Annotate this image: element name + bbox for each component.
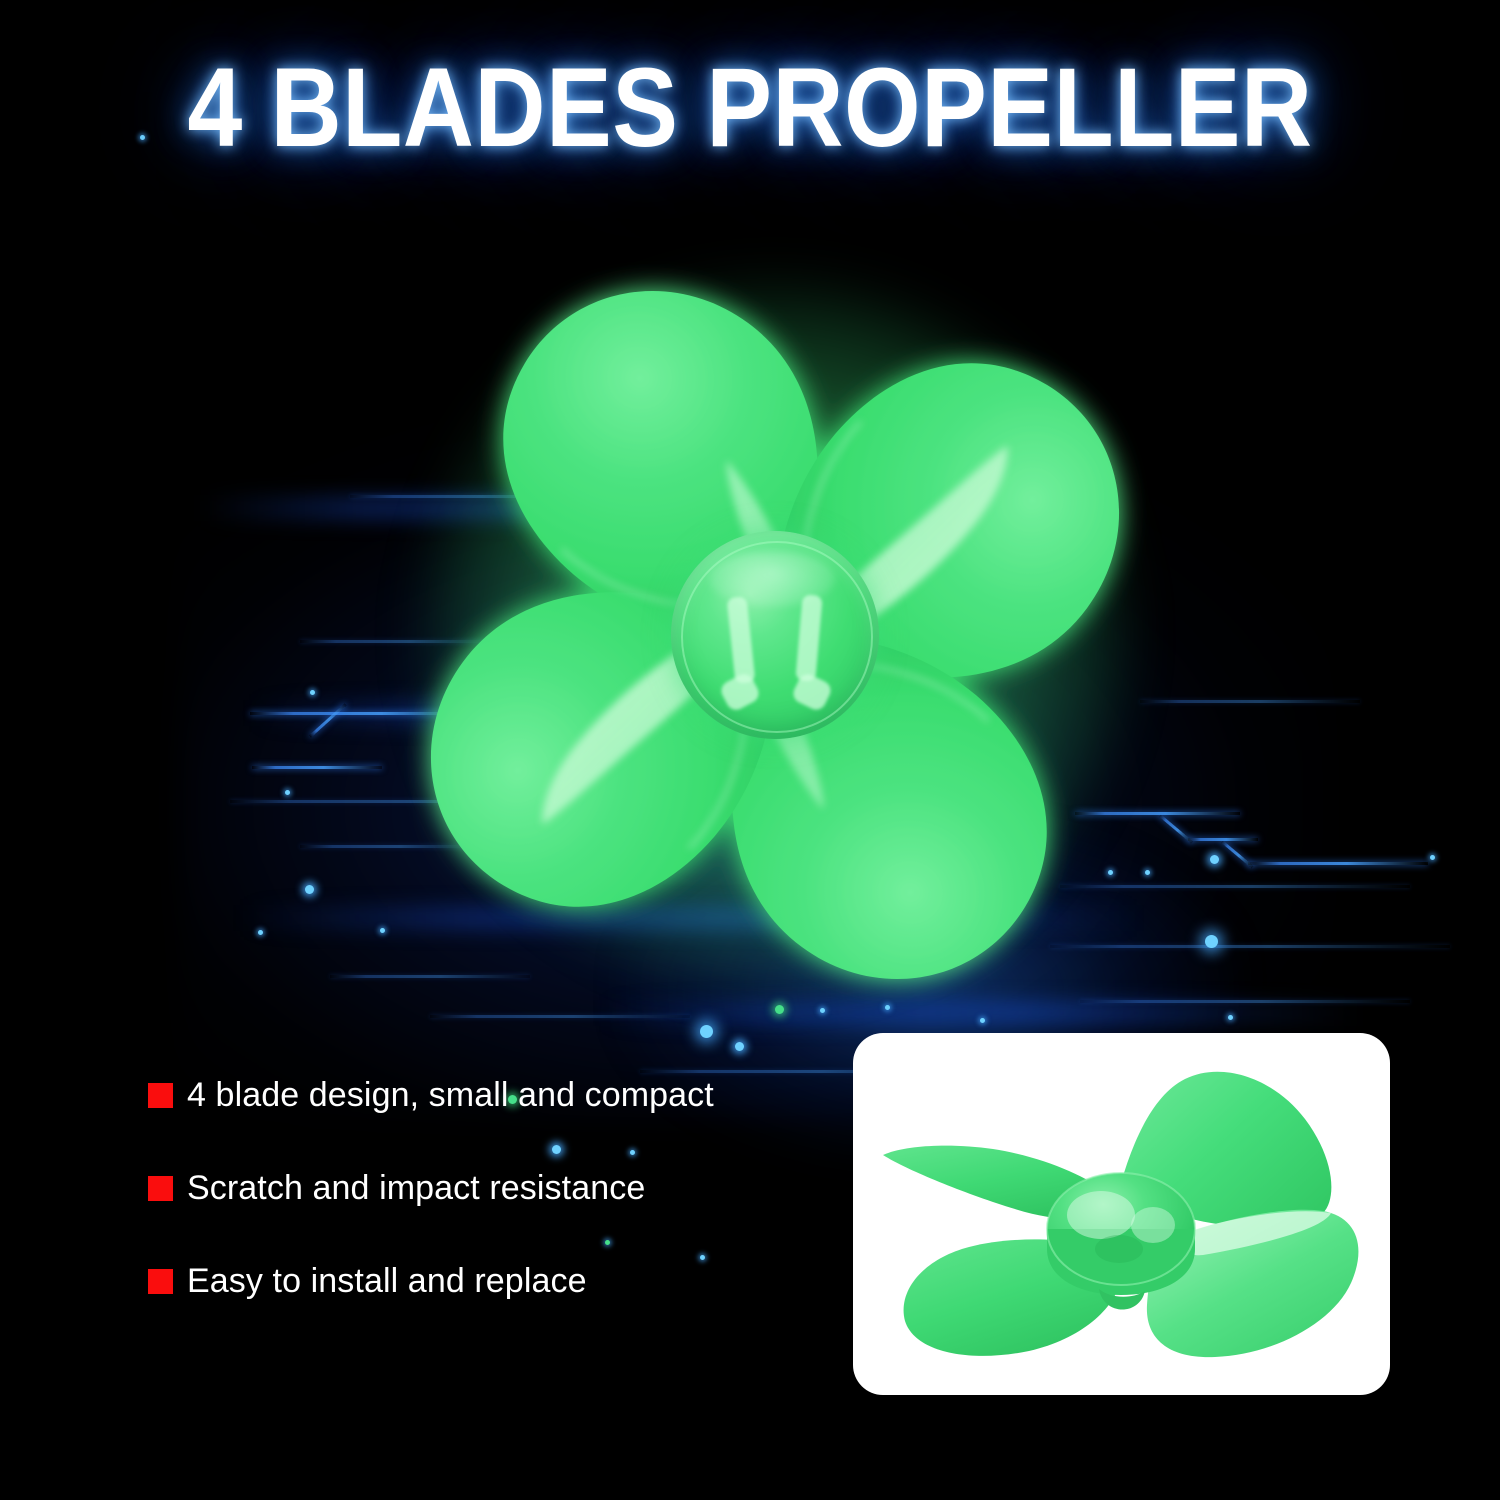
glow-particle [980,1018,985,1023]
feature-list: 4 blade design, small and compact Scratc… [148,1072,768,1351]
inset-product-card [853,1033,1390,1395]
bullet-square-icon [148,1176,173,1201]
feature-label: Scratch and impact resistance [187,1169,645,1208]
inset-product-image [853,1033,1390,1395]
glow-particle [285,790,290,795]
glow-particle [258,930,263,935]
circuit-trace [1248,862,1428,865]
glow-particle [310,690,315,695]
glow-particle [735,1042,744,1051]
feature-label: 4 blade design, small and compact [187,1076,714,1115]
feature-label: Easy to install and replace [187,1262,587,1301]
feature-item: Easy to install and replace [148,1258,768,1304]
inset-propeller-svg [853,1033,1390,1395]
glow-particle [1205,935,1218,948]
inset-hub-highlight [1067,1191,1135,1239]
page-title: 4 BLADES PROPELLER [90,52,1410,164]
glow-particle [700,1025,713,1038]
bullet-square-icon [148,1083,173,1108]
circuit-trace [430,1015,690,1018]
circuit-trace [252,766,382,769]
glow-particle [305,885,314,894]
glow-particle [1430,855,1435,860]
product-marketing-image: 4 BLADES PROPELLER [0,0,1500,1500]
glow-particle [380,928,385,933]
hero-propeller-image [395,255,1155,1015]
feature-item: Scratch and impact resistance [148,1165,768,1211]
inset-hub-highlight [1131,1207,1175,1243]
bullet-square-icon [148,1269,173,1294]
feature-item: 4 blade design, small and compact [148,1072,768,1118]
glow-particle [1228,1015,1233,1020]
glow-particle [1210,855,1219,864]
inset-hub-shadow [1095,1235,1143,1263]
circuit-trace [1140,700,1360,703]
